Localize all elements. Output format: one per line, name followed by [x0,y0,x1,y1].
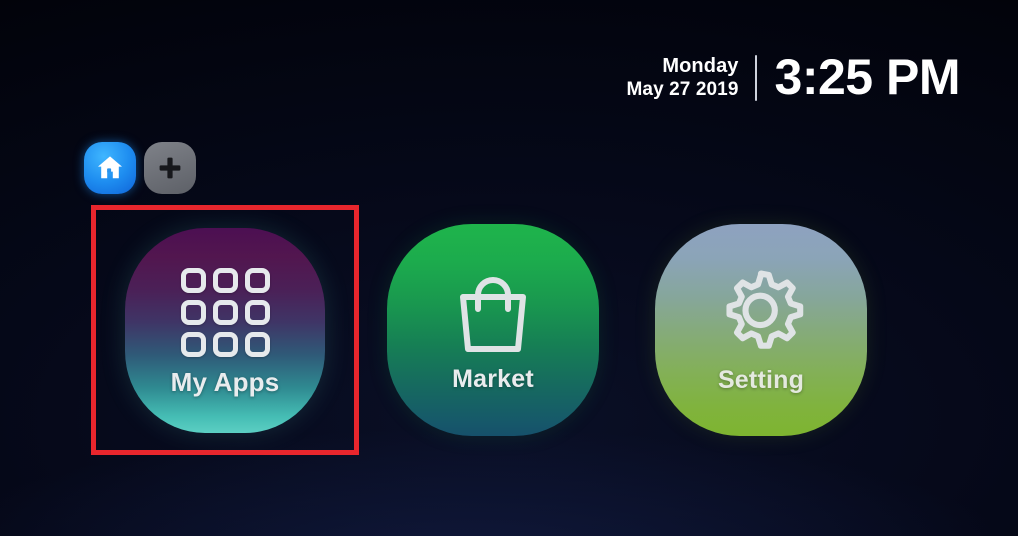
app-grid-cell [245,332,270,357]
app-grid-cell [181,268,206,293]
app-tile-myapps[interactable]: My Apps [125,228,325,433]
app-tile-label-setting: Setting [718,366,804,395]
tile-slot-setting[interactable]: Setting [627,205,895,455]
clock-time: 3:25 PM [775,52,960,106]
date-block: Monday May 27 2019 [627,56,739,102]
date-label: May 27 2019 [627,80,739,100]
app-tile-setting[interactable]: Setting [655,224,867,436]
home-icon [95,154,125,182]
app-grid-icon [181,268,270,357]
app-grid-cell [181,300,206,325]
app-tile-label-myapps: My Apps [171,367,280,398]
home-button[interactable] [84,142,136,194]
add-button[interactable] [144,142,196,194]
plus-icon [156,154,184,182]
gear-icon [713,266,809,360]
app-grid-cell [213,332,238,357]
app-grid-cell [245,300,270,325]
tile-slot-myapps[interactable]: My Apps [91,205,359,455]
shortcut-row [84,142,196,194]
tile-slot-market[interactable]: Market [359,205,627,455]
app-tile-label-market: Market [452,365,534,394]
clock-divider [755,55,757,101]
status-bar: Monday May 27 2019 3:25 PM [627,52,961,106]
weekday-label: Monday [662,56,738,77]
tv-home-screen: Monday May 27 2019 3:25 PM [0,0,1018,536]
app-tile-row: My Apps Market [91,205,895,455]
app-grid-cell [245,268,270,293]
app-tile-market[interactable]: Market [387,224,599,436]
app-grid-cell [213,300,238,325]
app-grid-cell [181,332,206,357]
shopping-bag-icon [445,267,541,359]
app-grid-cell [213,268,238,293]
